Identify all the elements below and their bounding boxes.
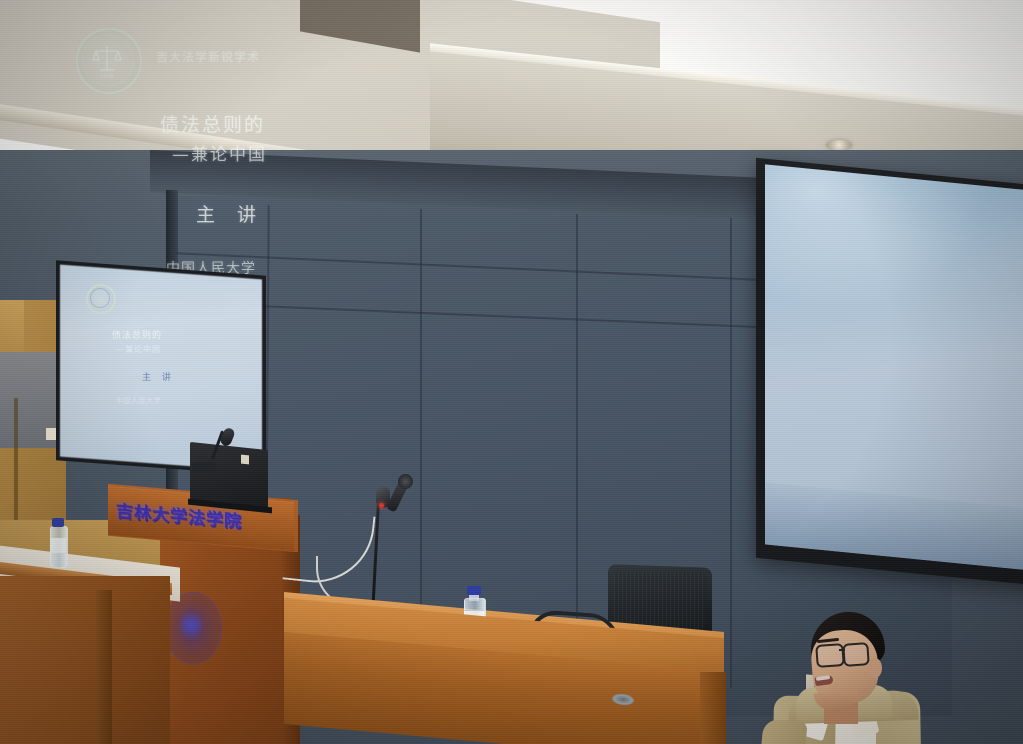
podium-emblem-core — [180, 608, 202, 642]
microphone-led-indicator — [379, 503, 384, 508]
laptop-badge — [241, 455, 249, 465]
water-bottle-cap — [52, 518, 64, 527]
slide-header-right: 吉大法学新锐学术 — [156, 48, 260, 65]
water-bottle-label — [50, 538, 66, 553]
slide-title-line1-left: 债法总则的 — [112, 328, 162, 341]
panel-seam — [730, 218, 732, 688]
slide-header-left: 吉大法学新锐学术 — [118, 292, 162, 299]
glasses-lens-left — [815, 643, 845, 668]
ear — [868, 658, 882, 678]
slide-title-line2-left: —兼论中国 — [116, 344, 161, 355]
wall-sticker — [46, 428, 56, 440]
water-bottle-cap — [467, 586, 481, 595]
downlight-icon — [826, 140, 852, 150]
desk-right-edge — [700, 672, 726, 744]
door-jamb — [14, 398, 18, 528]
glasses-lens-right — [842, 642, 870, 667]
slide-speaker-label-right: 主 讲 — [196, 200, 264, 227]
scales-of-justice-icon — [92, 42, 122, 76]
handheld-microphone-head — [398, 474, 413, 489]
slide-affiliation-left: 中国人民大学 — [116, 396, 161, 406]
front-table — [0, 576, 170, 744]
slide-title-line1-right: 债法总则的 — [160, 110, 265, 137]
crest-year: 1948 — [90, 74, 124, 80]
lecture-hall-photo: 1948 吉大法学新锐学术 债法总则的 —兼论中国 主 讲 中国人民大学 吉大法… — [0, 0, 1023, 744]
slide-title-line2-right: —兼论中国 — [172, 140, 267, 165]
podium-microphone-base — [192, 462, 216, 472]
slide-speaker-label-left: 主 讲 — [142, 370, 175, 383]
front-table-leg — [96, 590, 112, 744]
glasses-bridge — [839, 649, 845, 651]
law-school-crest-ring-left — [90, 288, 110, 308]
projection-screen-right — [765, 164, 1023, 571]
